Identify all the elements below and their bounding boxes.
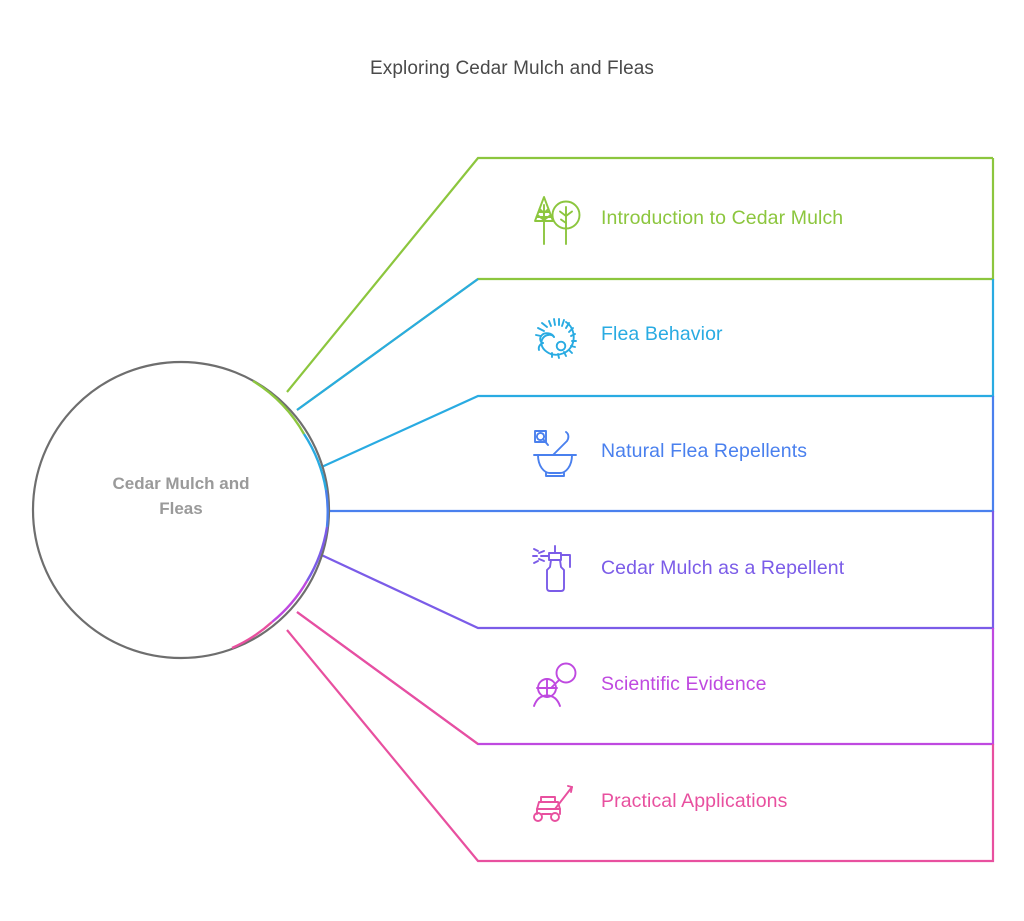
diagram-canvas bbox=[0, 0, 1024, 921]
branch-label-5[interactable]: Scientific Evidence bbox=[601, 673, 767, 696]
branch-label-4[interactable]: Cedar Mulch as a Repellent bbox=[601, 557, 844, 580]
branch-band-1-bottom[interactable] bbox=[297, 158, 993, 410]
mindmap-diagram: Exploring Cedar Mulch and Fleas Cedar Mu… bbox=[0, 0, 1024, 921]
branch-band-6[interactable] bbox=[287, 630, 993, 861]
branch-label-2[interactable]: Flea Behavior bbox=[601, 323, 723, 346]
branch-band-6-top[interactable] bbox=[297, 612, 478, 744]
hub-label-line1: Cedar Mulch and bbox=[113, 474, 250, 493]
hub-label-line2: Fleas bbox=[159, 499, 202, 518]
branch-label-3[interactable]: Natural Flea Repellents bbox=[601, 440, 807, 463]
hub-label: Cedar Mulch and Fleas bbox=[61, 472, 301, 521]
lawn-mower-icon bbox=[528, 775, 584, 831]
branch-label-1[interactable]: Introduction to Cedar Mulch bbox=[601, 207, 843, 230]
two-trees-icon bbox=[528, 192, 584, 248]
mortar-and-pestle-icon bbox=[528, 424, 584, 480]
researcher-magnifier-icon bbox=[528, 658, 584, 714]
spray-bottle-icon bbox=[528, 541, 584, 597]
branch-band-2-top[interactable] bbox=[297, 279, 478, 410]
branch-label-6[interactable]: Practical Applications bbox=[601, 790, 787, 813]
branch-band-1[interactable] bbox=[287, 158, 993, 392]
flea-icon bbox=[528, 308, 584, 364]
